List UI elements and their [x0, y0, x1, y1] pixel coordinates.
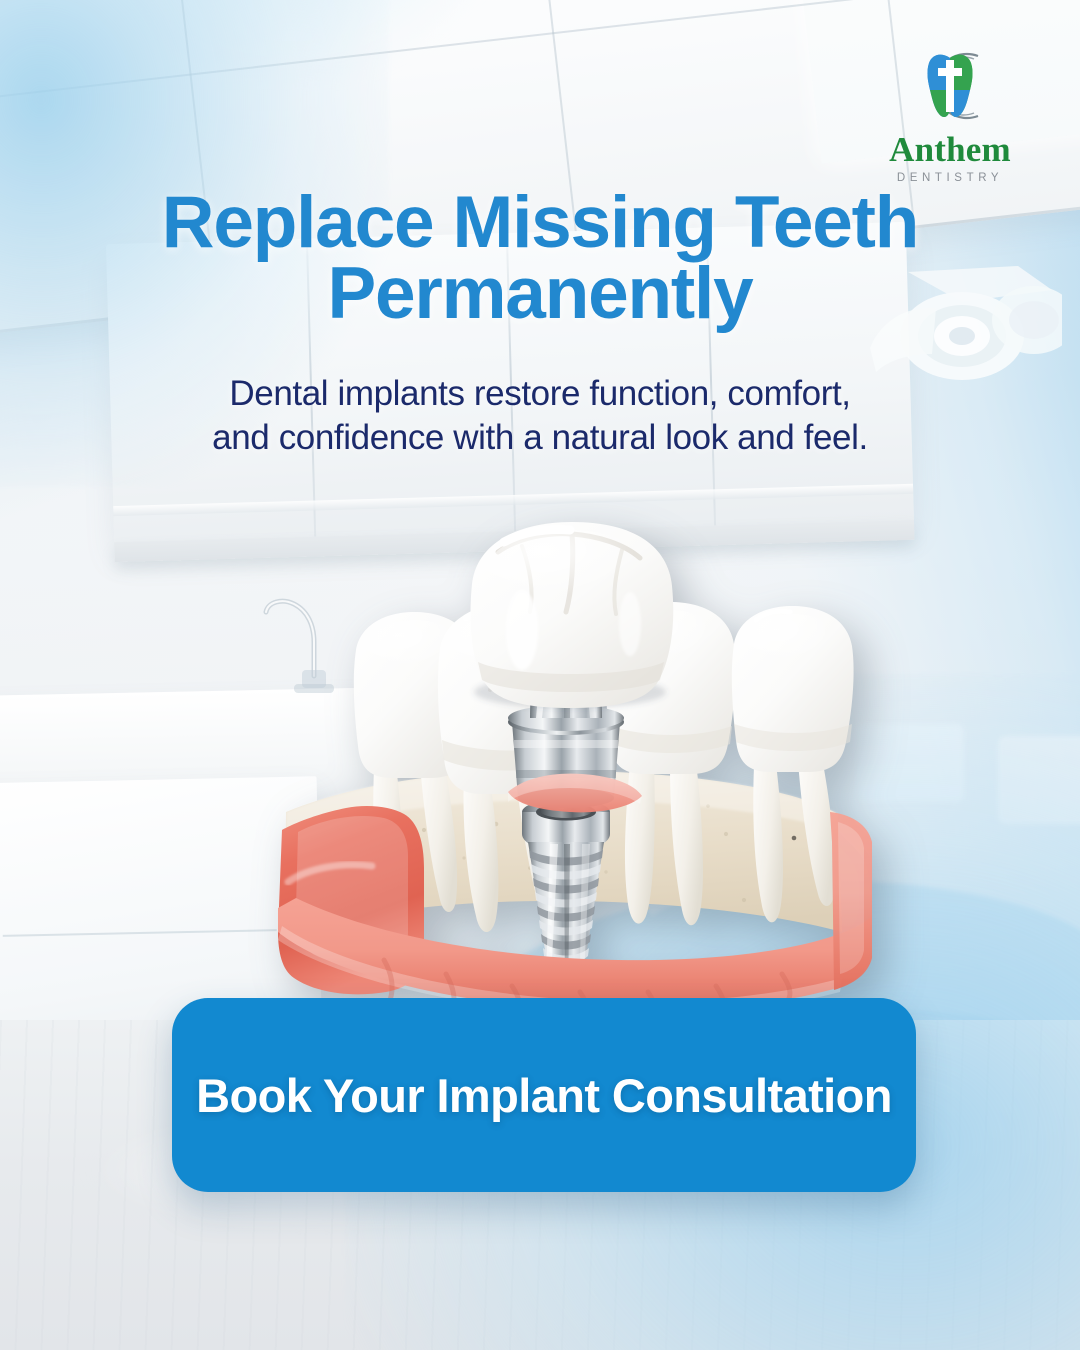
- subtitle-line-1: Dental implants restore function, comfor…: [58, 372, 1022, 416]
- brand-tagline: DENTISTRY: [862, 172, 1038, 184]
- headline-line-1: Replace Missing Teeth: [56, 188, 1024, 259]
- implant-promo-poster: Anthem DENTISTRY Replace Missing Teeth P…: [0, 0, 1080, 1350]
- cta-label: Book Your Implant Consultation: [196, 1068, 892, 1123]
- subtitle: Dental implants restore function, comfor…: [0, 372, 1080, 460]
- tooth-quadrant-icon: [908, 48, 992, 126]
- page-title: Replace Missing Teeth Permanently: [0, 188, 1080, 330]
- headline-line-2: Permanently: [56, 259, 1024, 330]
- brand-name: Anthem: [862, 132, 1038, 167]
- brand-logo[interactable]: Anthem DENTISTRY: [862, 48, 1038, 184]
- book-consultation-button[interactable]: Book Your Implant Consultation: [172, 998, 916, 1192]
- subtitle-line-2: and confidence with a natural look and f…: [58, 416, 1022, 460]
